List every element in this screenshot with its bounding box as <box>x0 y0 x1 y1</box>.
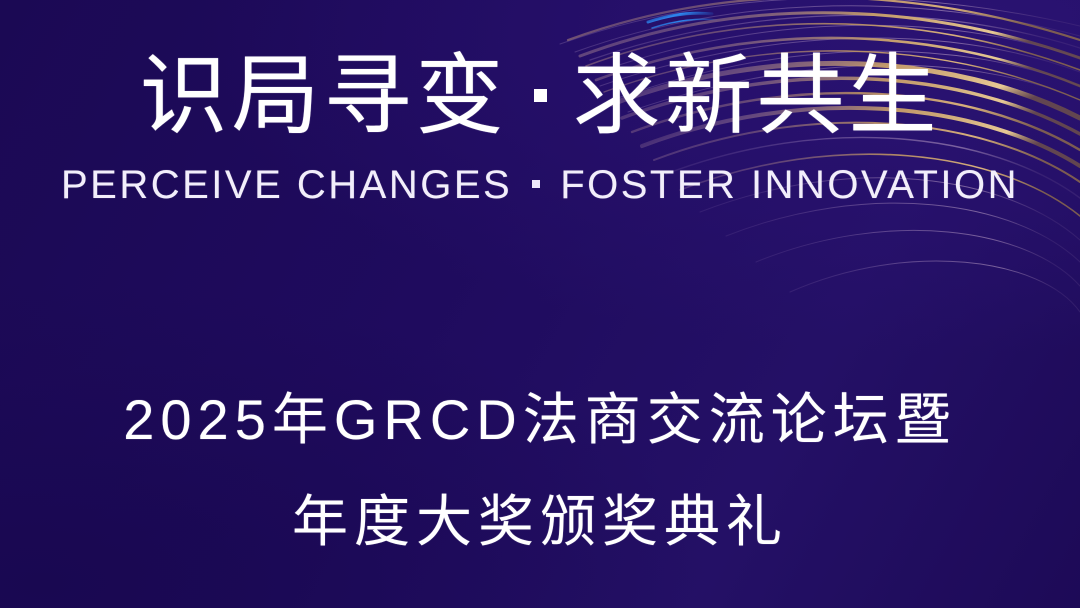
headline-chinese: 识局寻变求新共生 <box>0 48 1080 143</box>
headline-block: 识局寻变求新共生 PERCEIVE CHANGESFOSTER INNOVATI… <box>0 48 1080 208</box>
event-title-line-one: 2025年GRCD法商交流论坛暨 <box>0 392 1080 448</box>
headline-separator-dot <box>534 89 547 102</box>
subtitle-part-two: FOSTER INNOVATION <box>560 163 1019 207</box>
headline-part-two: 求新共生 <box>573 46 941 145</box>
subtitle-english: PERCEIVE CHANGESFOSTER INNOVATION <box>0 163 1080 208</box>
headline-part-one: 识局寻变 <box>139 46 507 145</box>
subtitle-separator-dot <box>532 180 540 188</box>
event-title-block: 2025年GRCD法商交流论坛暨 年度大奖颁奖典礼 <box>0 392 1080 550</box>
event-title-line-two: 年度大奖颁奖典礼 <box>0 494 1080 550</box>
subtitle-part-one: PERCEIVE CHANGES <box>61 163 512 207</box>
event-poster: 识局寻变求新共生 PERCEIVE CHANGESFOSTER INNOVATI… <box>0 0 1080 608</box>
